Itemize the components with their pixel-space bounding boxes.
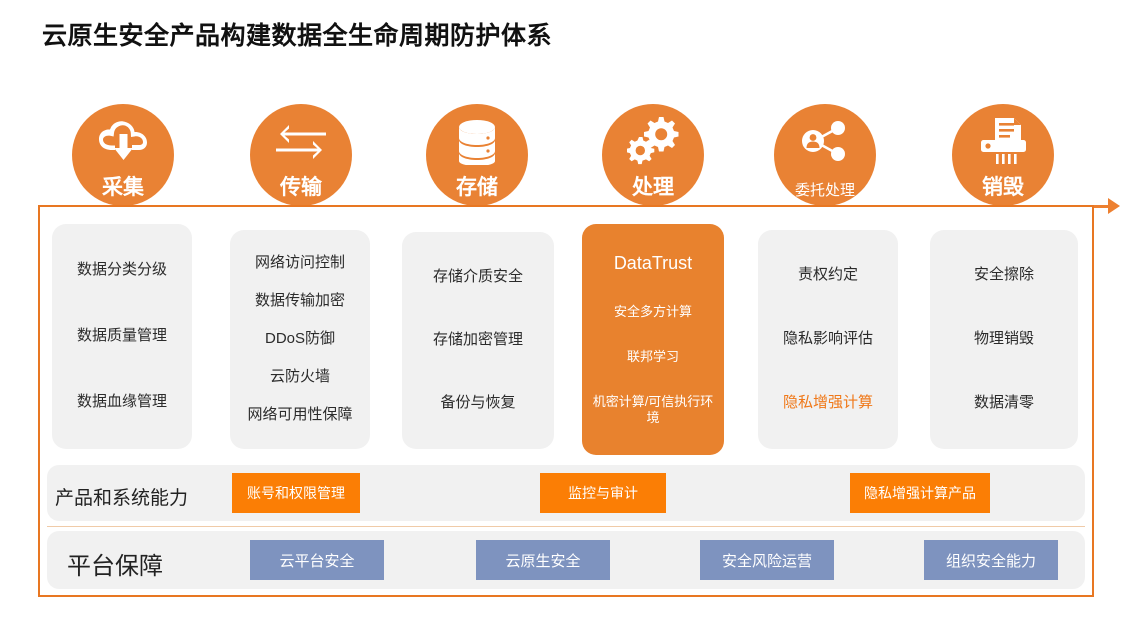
- platform-guarantee-label: 平台保障: [67, 546, 163, 581]
- capability-item: 隐私影响评估: [764, 330, 892, 349]
- capability-item: 数据清零: [936, 394, 1072, 413]
- protection-framework-panel: 数据分类分级 数据质量管理 数据血缘管理 网络访问控制 数据传输加密 DDoS防…: [38, 205, 1094, 597]
- band-divider: [47, 526, 1085, 527]
- stage-transfer[interactable]: 传输: [250, 104, 352, 206]
- capability-item: 存储加密管理: [408, 331, 548, 350]
- product-chip-privacy-computing-product[interactable]: 隐私增强计算产品: [850, 473, 990, 513]
- data-lifecycle-flow: 采集 传输: [0, 74, 1132, 190]
- diagram-canvas: 云原生安全产品构建数据全生命周期防护体系 采集: [0, 0, 1132, 617]
- chip-label: 监控与审计: [568, 483, 638, 503]
- capability-item: 存储介质安全: [408, 268, 548, 287]
- stage-collect-label: 采集: [102, 177, 144, 198]
- capability-item-highlighted: 隐私增强计算: [764, 394, 892, 413]
- capability-card-destroy[interactable]: 安全擦除 物理销毁 数据清零: [930, 230, 1078, 449]
- capability-card-storage[interactable]: 存储介质安全 存储加密管理 备份与恢复: [402, 232, 554, 449]
- stage-processing-label: 处理: [632, 177, 674, 198]
- capability-item: 备份与恢复: [408, 394, 548, 413]
- cloud-download-icon: [72, 117, 174, 167]
- capability-item: 云防火墙: [236, 368, 364, 387]
- stage-destroy[interactable]: 销毁: [952, 104, 1054, 206]
- platform-chip-organization-security-capability[interactable]: 组织安全能力: [924, 540, 1058, 580]
- capability-item: 联邦学习: [588, 349, 718, 365]
- capability-item: 数据传输加密: [236, 292, 364, 311]
- capability-item: 数据血缘管理: [58, 393, 186, 412]
- capability-card-collect[interactable]: 数据分类分级 数据质量管理 数据血缘管理: [52, 224, 192, 449]
- stage-storage-label: 存储: [456, 177, 498, 198]
- stage-entrusted-processing[interactable]: 委托处理: [774, 104, 876, 206]
- capability-item-datatrust: DataTrust: [588, 252, 718, 275]
- gears-icon: [602, 117, 704, 167]
- chip-label: 隐私增强计算产品: [864, 483, 976, 503]
- capability-item: DDoS防御: [236, 330, 364, 349]
- capability-card-processing[interactable]: DataTrust 安全多方计算 联邦学习 机密计算/可信执行环境: [582, 224, 724, 455]
- capability-item: 机密计算/可信执行环境: [588, 394, 718, 427]
- capability-card-row: 数据分类分级 数据质量管理 数据血缘管理 网络访问控制 数据传输加密 DDoS防…: [40, 207, 1092, 455]
- chip-label: 云原生安全: [505, 550, 580, 571]
- product-capability-label: 产品和系统能力: [55, 483, 188, 510]
- product-chip-monitoring-audit[interactable]: 监控与审计: [540, 473, 666, 513]
- capability-item: 责权约定: [764, 266, 892, 285]
- capability-item: 数据质量管理: [58, 327, 186, 346]
- capability-card-entrusted[interactable]: 责权约定 隐私影响评估 隐私增强计算: [758, 230, 898, 449]
- stage-storage[interactable]: 存储: [426, 104, 528, 206]
- stage-destroy-label: 销毁: [982, 177, 1024, 198]
- flow-arrow-head-icon: [1108, 198, 1120, 214]
- chip-label: 账号和权限管理: [247, 483, 345, 503]
- page-title: 云原生安全产品构建数据全生命周期防护体系: [42, 16, 552, 52]
- chip-label: 组织安全能力: [946, 550, 1036, 571]
- transfer-arrows-icon: [250, 117, 352, 167]
- stage-processing[interactable]: 处理: [602, 104, 704, 206]
- product-chip-account-permission[interactable]: 账号和权限管理: [232, 473, 360, 513]
- platform-chip-cloud-platform-security[interactable]: 云平台安全: [250, 540, 384, 580]
- share-network-icon: [774, 117, 876, 167]
- chip-label: 安全风险运营: [722, 550, 812, 571]
- stage-collect[interactable]: 采集: [72, 104, 174, 206]
- capability-item: 安全多方计算: [588, 304, 718, 320]
- capability-item: 数据分类分级: [58, 261, 186, 280]
- capability-item: 物理销毁: [936, 330, 1072, 349]
- stage-entrusted-processing-label: 委托处理: [795, 183, 855, 198]
- shredder-icon: [952, 117, 1054, 167]
- capability-item: 安全擦除: [936, 266, 1072, 285]
- platform-chip-cloud-native-security[interactable]: 云原生安全: [476, 540, 610, 580]
- capability-item: 网络访问控制: [236, 254, 364, 273]
- database-stack-icon: [426, 117, 528, 167]
- platform-chip-security-risk-operation[interactable]: 安全风险运营: [700, 540, 834, 580]
- stage-transfer-label: 传输: [280, 177, 322, 198]
- chip-label: 云平台安全: [279, 550, 354, 571]
- capability-item: 网络可用性保障: [236, 406, 364, 425]
- capability-card-transfer[interactable]: 网络访问控制 数据传输加密 DDoS防御 云防火墙 网络可用性保障: [230, 230, 370, 449]
